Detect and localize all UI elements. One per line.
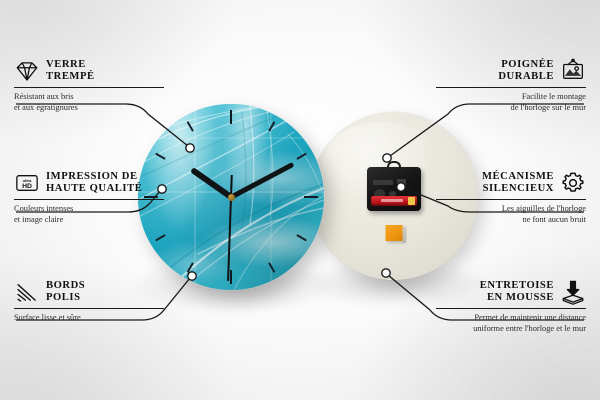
- feature-title: IMPRESSION DE HAUTE QUALITÉ: [46, 171, 142, 196]
- svg-text:ultra: ultra: [23, 178, 33, 183]
- connector-dot-entretoise: [382, 269, 390, 277]
- feature-divider: [436, 308, 586, 309]
- feature-title: ENTRETOISE EN MOUSSE: [480, 280, 554, 305]
- connector-dot-verre: [186, 144, 194, 152]
- feature-impression-haute-qualite: ultra HD IMPRESSION DE HAUTE QUALITÉ Cou…: [14, 170, 164, 225]
- svg-text:HD: HD: [22, 183, 32, 190]
- polished-edges-icon: [14, 279, 40, 305]
- feature-divider: [14, 199, 164, 200]
- feature-divider: [14, 308, 164, 309]
- feature-divider: [14, 87, 164, 88]
- feature-title: VERRE TREMPÉ: [46, 59, 95, 84]
- feature-title: MÉCANISME SILENCIEUX: [482, 171, 554, 196]
- ultra-hd-icon: ultra HD: [14, 170, 40, 196]
- feature-verre-trempe: VERRE TREMPÉ Résistant aux bris et aux é…: [14, 58, 164, 113]
- hanging-frame-icon: [560, 58, 586, 84]
- connector-dot-poignee: [383, 154, 391, 162]
- feature-description: Surface lisse et sûre: [14, 313, 164, 323]
- connector-dot-bords: [188, 272, 196, 280]
- feature-description: Couleurs intenses et image claire: [14, 204, 164, 224]
- feature-mecanisme-silencieux: MÉCANISME SILENCIEUX Les aiguilles de l'…: [436, 170, 586, 225]
- feature-title: POIGNÉE DURABLE: [498, 59, 554, 84]
- feature-divider: [436, 199, 586, 200]
- foam-spacer-arrow-icon: [560, 279, 586, 305]
- feature-bords-polis: BORDS POLIS Surface lisse et sûre: [14, 279, 164, 324]
- feature-description: Les aiguilles de l'horloge ne font aucun…: [436, 204, 586, 224]
- diamond-icon: [14, 58, 40, 84]
- feature-entretoise-en-mousse: ENTRETOISE EN MOUSSE Permet de maintenir…: [436, 279, 586, 334]
- feature-divider: [436, 87, 586, 88]
- feature-description: Facilite le montage de l'horloge sur le …: [436, 92, 586, 112]
- gear-icon: [560, 170, 586, 196]
- feature-title: BORDS POLIS: [46, 280, 85, 305]
- infographic-canvas: VERRE TREMPÉ Résistant aux bris et aux é…: [0, 0, 600, 400]
- feature-description: Permet de maintenir une distance uniform…: [436, 313, 586, 333]
- feature-poignee-durable: POIGNÉE DURABLE Facilite le montage de l…: [436, 58, 586, 113]
- connector-dot-mecanisme: [397, 183, 405, 191]
- feature-description: Résistant aux bris et aux égratignures: [14, 92, 164, 112]
